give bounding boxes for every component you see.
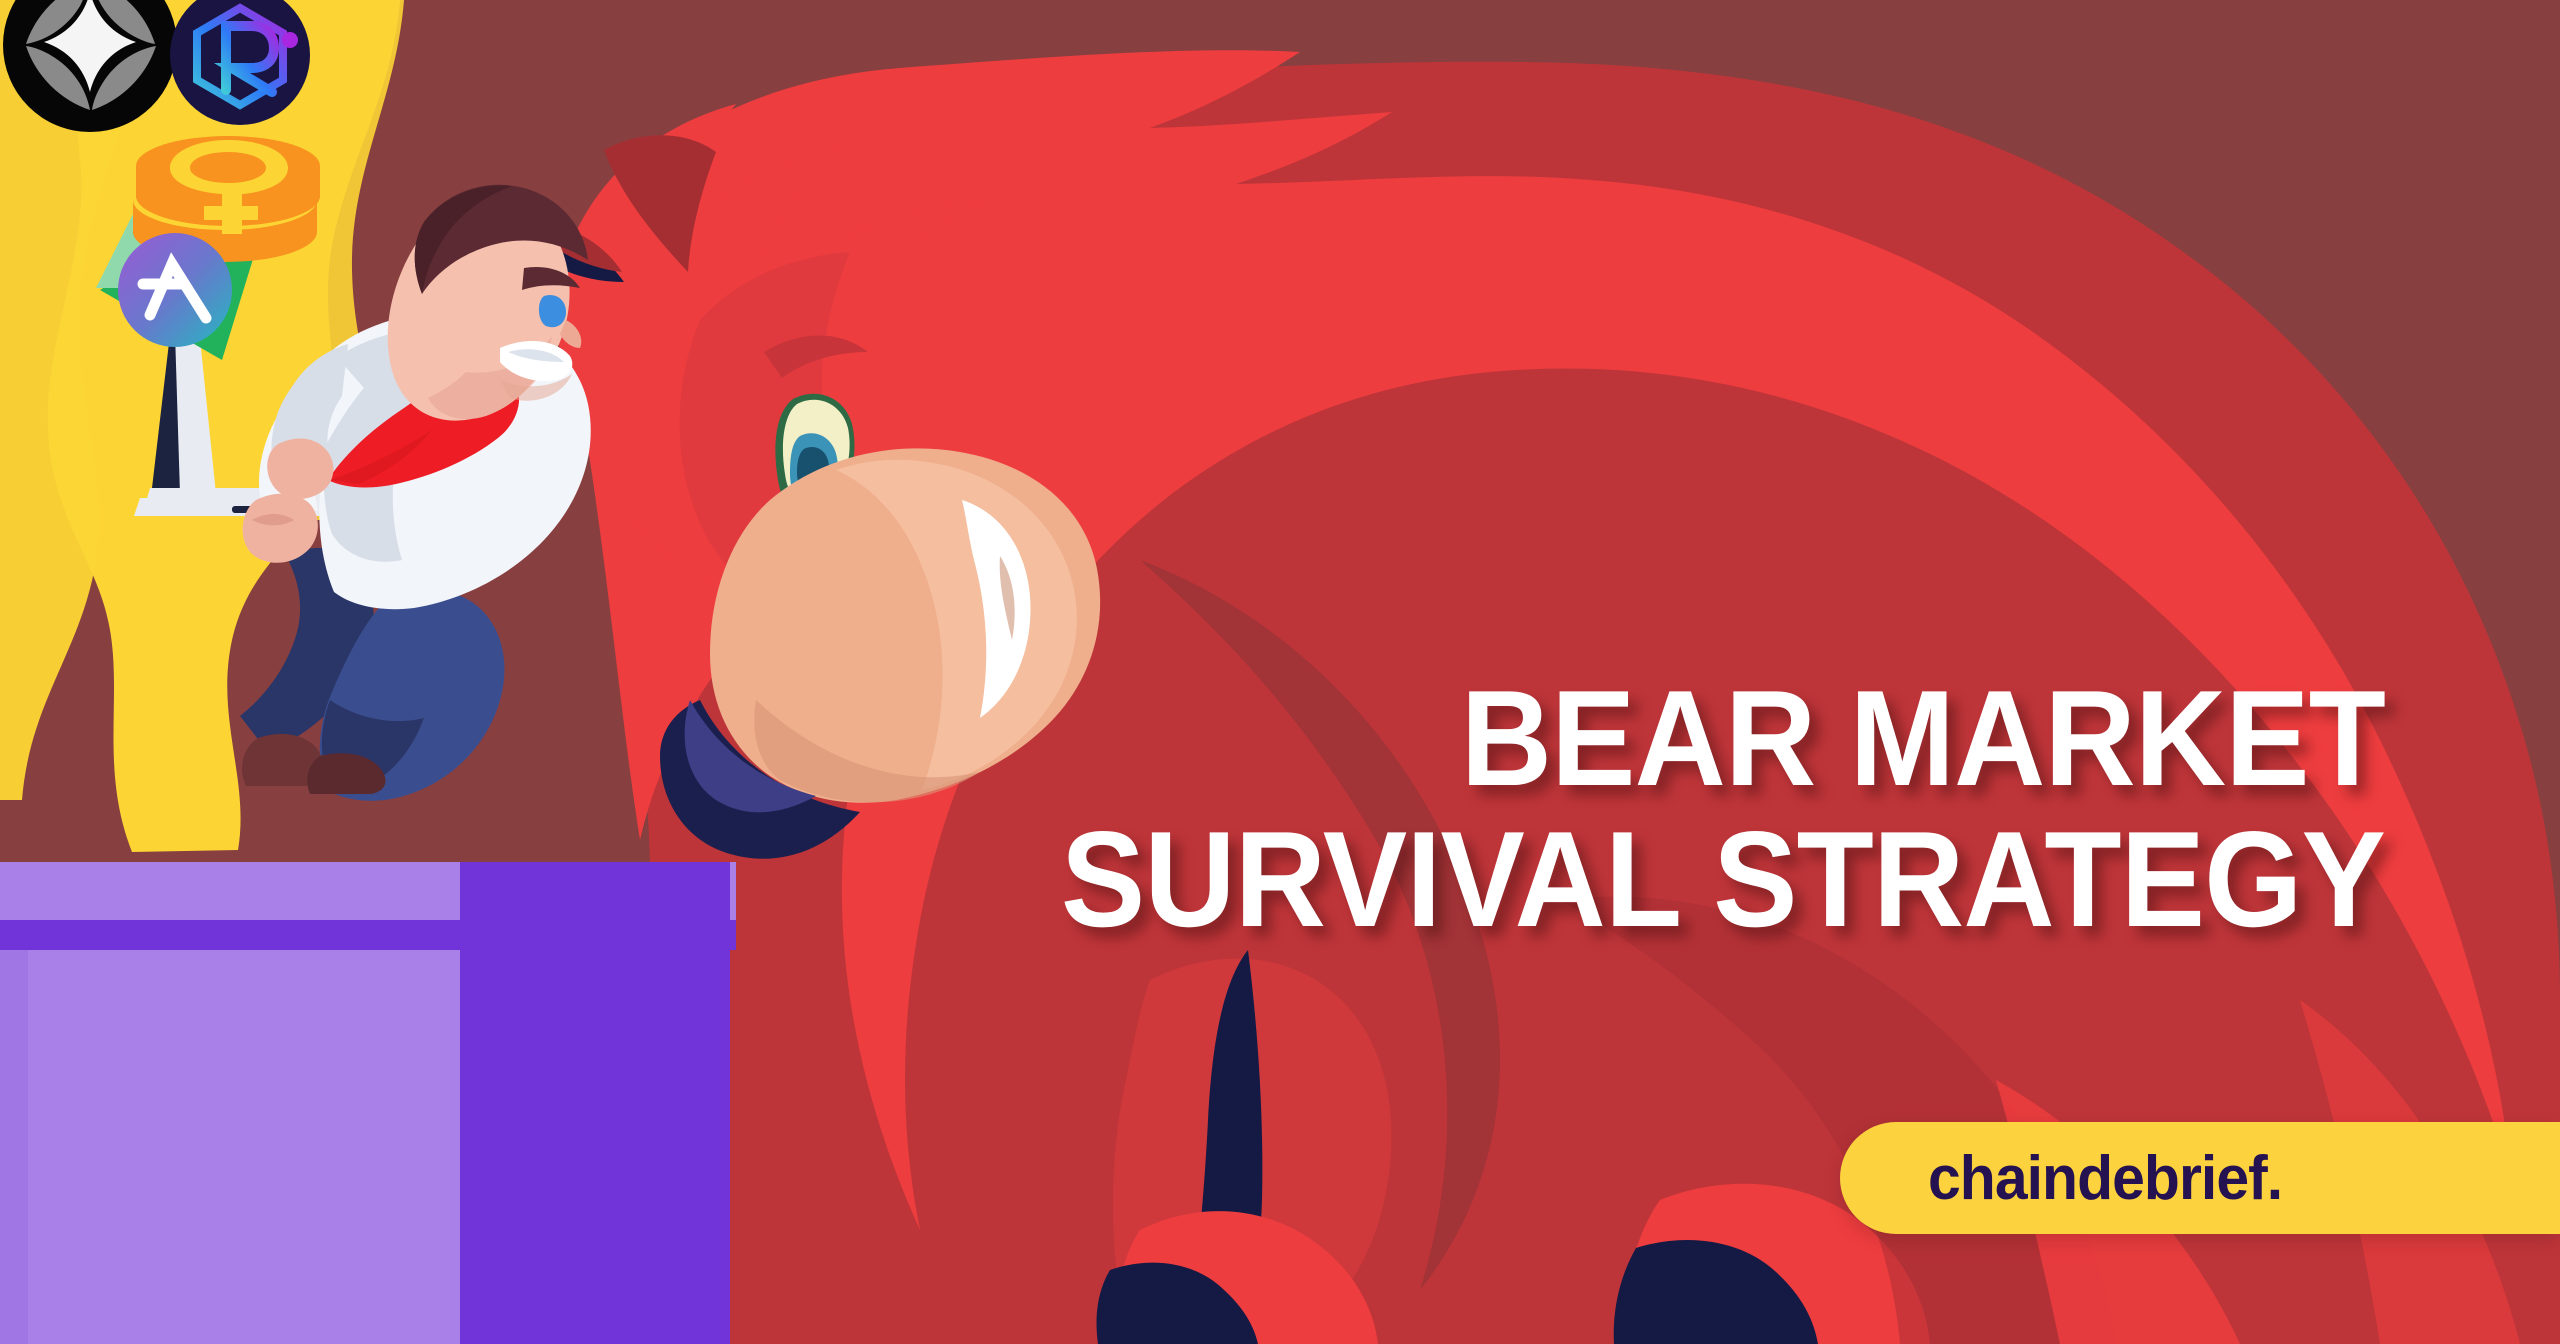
desk [0, 862, 736, 1344]
banner-canvas: BEAR MARKET SURVIVAL STRATEGY chaindebri… [0, 0, 2560, 1344]
logo-wordmark: chaindebrief. [1928, 1143, 2282, 1214]
aptos-token-icon [118, 233, 232, 347]
chaindebrief-logo-badge[interactable]: chaindebrief. [1840, 1122, 2560, 1234]
